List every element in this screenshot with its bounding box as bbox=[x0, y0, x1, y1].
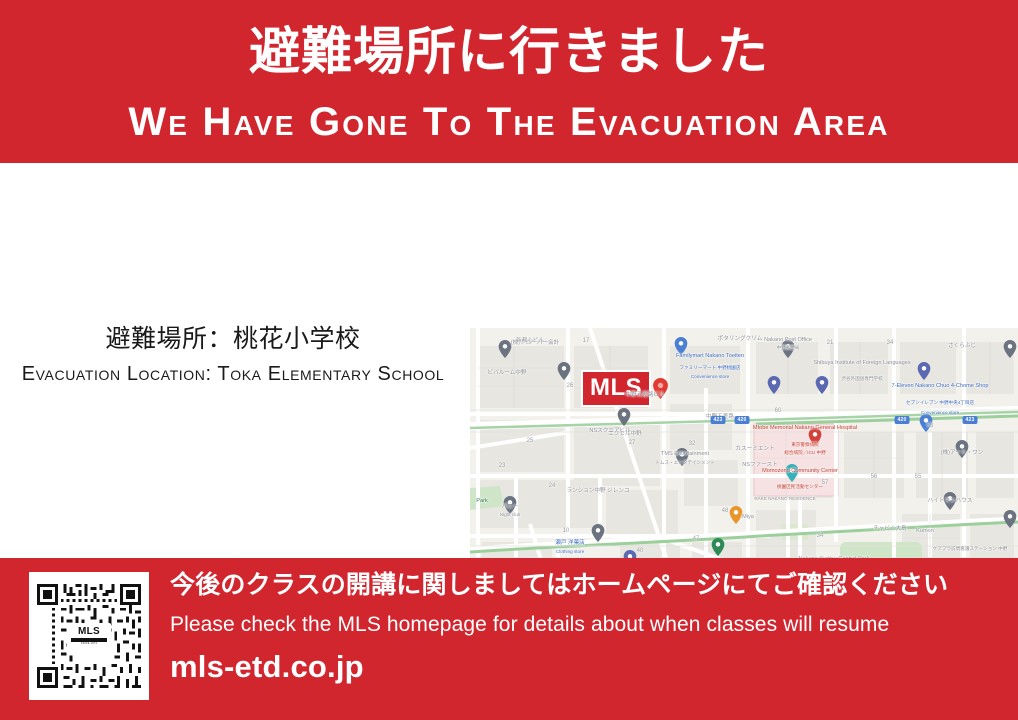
map-poi-label: Convenience store bbox=[691, 374, 729, 379]
map-poi-label: 東京警察病院 bbox=[791, 442, 819, 447]
map-block-number: 34 bbox=[817, 533, 824, 539]
qr-center-logo: MLS SINCE 1974 bbox=[67, 623, 111, 649]
map-poi-label: Mtobe Memorial Nakano General Hospital bbox=[753, 425, 857, 432]
map-block-number: 25 bbox=[527, 438, 534, 444]
map-poi-label: Nakano Post Office bbox=[764, 337, 812, 344]
qr-logo-since: SINCE 1974 bbox=[81, 642, 97, 646]
map-pin-icon bbox=[816, 376, 829, 394]
map-poi-label: Kumon bbox=[916, 528, 934, 535]
map-poi-label: Momozono Community Center bbox=[762, 468, 838, 475]
map-block-number: 40 bbox=[637, 548, 644, 554]
map-poi-label: ファミリーマート 中野桃園店 bbox=[680, 365, 741, 370]
map-poi-label: ランション中野 ジレンコ bbox=[566, 488, 629, 495]
map-poi-label: TMS Entertainment bbox=[661, 451, 709, 458]
header-title-english: We Have Gone To The Evacuation Area bbox=[0, 99, 1018, 145]
map-block-number: 60 bbox=[775, 408, 782, 414]
map-poi-label: チャビく大島 bbox=[873, 526, 907, 533]
map-poi-label: ケアプラ訪問看護ステーション 中野 bbox=[933, 546, 1008, 551]
map-pin-icon bbox=[1004, 510, 1017, 528]
poster-root: 避難場所に行きました We Have Gone To The Evacuatio… bbox=[0, 0, 1018, 720]
map-poi-label: 渋谷外国語専門学校 bbox=[841, 376, 882, 381]
map-poi-label: NSスクエアビル bbox=[589, 428, 630, 435]
map-pin-icon bbox=[558, 362, 571, 380]
qr-logo-text: MLS bbox=[78, 627, 100, 637]
map-poi-label: Night club bbox=[500, 512, 520, 517]
map-block-number: 32 bbox=[689, 441, 696, 447]
map-poi-label: Shibuya Institute of Foreign Languages bbox=[813, 360, 910, 367]
map-route-shield: 420 bbox=[895, 416, 910, 424]
footer-message-english: Please check the MLS homepage for detail… bbox=[170, 610, 1000, 640]
map-block-number: 17 bbox=[583, 338, 590, 344]
map-poi-label: 中野五差路ビル bbox=[625, 392, 664, 399]
map-pin-icon bbox=[768, 376, 781, 394]
map-poi-label: セブンイレブン 中野中央4丁目店 bbox=[906, 400, 974, 405]
map-block-number: 24 bbox=[549, 483, 556, 489]
map-block-number: 48 bbox=[722, 508, 729, 514]
map-block-number: 56 bbox=[871, 474, 878, 480]
map-poi-label: ポタリングクリム bbox=[718, 336, 763, 343]
map-poi-label: Miya bbox=[742, 514, 754, 521]
footer-message-japanese: 今後のクラスの開講に関しましてはホームページにてご確認ください bbox=[170, 568, 1000, 602]
map-poi-label: Park bbox=[476, 498, 488, 505]
map-pin-icon bbox=[618, 408, 631, 426]
mls-marker-label: MLS bbox=[581, 370, 651, 407]
map-block-number: 27 bbox=[629, 440, 636, 446]
map-pin-restaurant-icon bbox=[730, 506, 743, 524]
map-poi-label: さくらふじ bbox=[948, 343, 976, 350]
map-poi-label: 新都心ビル bbox=[516, 338, 544, 345]
evacuation-location-japanese: 避難場所：桃花小学校 bbox=[0, 323, 466, 356]
evacuation-location-english: Evacuation Location: Toka Elementary Sch… bbox=[0, 360, 466, 388]
map-poi-label: 桃園区民活動センター bbox=[777, 484, 823, 489]
map-pin-icon bbox=[1004, 340, 1017, 358]
map-pin-icon bbox=[592, 524, 605, 542]
map-poi-label: 総合病院／ICU 中野 bbox=[784, 450, 825, 455]
map-poi-label: NSファースト bbox=[742, 462, 777, 469]
map-poi-label: (株)アート・ワン bbox=[941, 450, 984, 457]
map-poi-label: ハイトマンハウス bbox=[928, 498, 973, 505]
map-poi-label: Clothing store bbox=[556, 549, 584, 554]
map-block-number: 53 bbox=[927, 423, 934, 429]
map-poi-label: トムス・エンタテインメント bbox=[655, 460, 715, 465]
map-poi-label: Convenience store bbox=[921, 410, 959, 415]
map-block-number: 55 bbox=[915, 474, 922, 480]
map-poi-label: カスーミエント bbox=[735, 446, 774, 453]
map-route-shield: 420 bbox=[735, 416, 750, 424]
map-block-number: 57 bbox=[822, 480, 829, 486]
map-poi-label: 瀬戸 洋菓店 bbox=[555, 540, 585, 547]
map-block-number: 26 bbox=[567, 383, 574, 389]
map-poi-label: Familymart Nakano Toeiten bbox=[676, 353, 744, 360]
map-pin-icon bbox=[918, 362, 931, 380]
map-block-number: 10 bbox=[563, 528, 570, 534]
map-block-number: 34 bbox=[887, 340, 894, 346]
map-poi-label: パニー bbox=[502, 504, 519, 511]
footer-text-block: 今後のクラスの開講に関しましてはホームページにてご確認ください Please c… bbox=[170, 568, 1000, 686]
map-pin-icon bbox=[499, 340, 512, 358]
qr-code-pattern: MLS SINCE 1974 bbox=[34, 577, 144, 695]
map-poi-label: 7-Eleven Nakano Chuo 4-Chome Shop bbox=[891, 383, 988, 390]
header-title-japanese: 避難場所に行きました bbox=[0, 22, 1018, 82]
qr-code[interactable]: MLS SINCE 1974 bbox=[29, 572, 149, 700]
evacuation-location-block: 避難場所：桃花小学校 Evacuation Location: Toka Ele… bbox=[0, 323, 466, 388]
map-poi-label: RAKE NAKANO RESIDENCE bbox=[754, 496, 815, 501]
map-block-number: 23 bbox=[499, 463, 506, 469]
body-area: 避難場所：桃花小学校 Evacuation Location: Toka Ele… bbox=[0, 163, 1018, 558]
footer-url[interactable]: mls-etd.co.jp bbox=[170, 648, 1000, 686]
header-banner: 避難場所に行きました We Have Gone To The Evacuatio… bbox=[0, 0, 1018, 163]
map-block-number: 21 bbox=[827, 340, 834, 346]
map-route-shield: 423 bbox=[963, 416, 978, 424]
map-poi-label: 中野郵便局 bbox=[777, 345, 800, 350]
map-block-number: 47 bbox=[693, 536, 700, 542]
map-pin-park-icon bbox=[712, 538, 725, 556]
map-route-shield: 423 bbox=[711, 416, 726, 424]
footer-banner: MLS SINCE 1974 今後のクラスの開講に関しましてはホームページにてご… bbox=[0, 558, 1018, 720]
map-poi-label: ビバルーム中野 bbox=[488, 370, 527, 377]
mls-map-marker: MLS bbox=[581, 370, 668, 407]
